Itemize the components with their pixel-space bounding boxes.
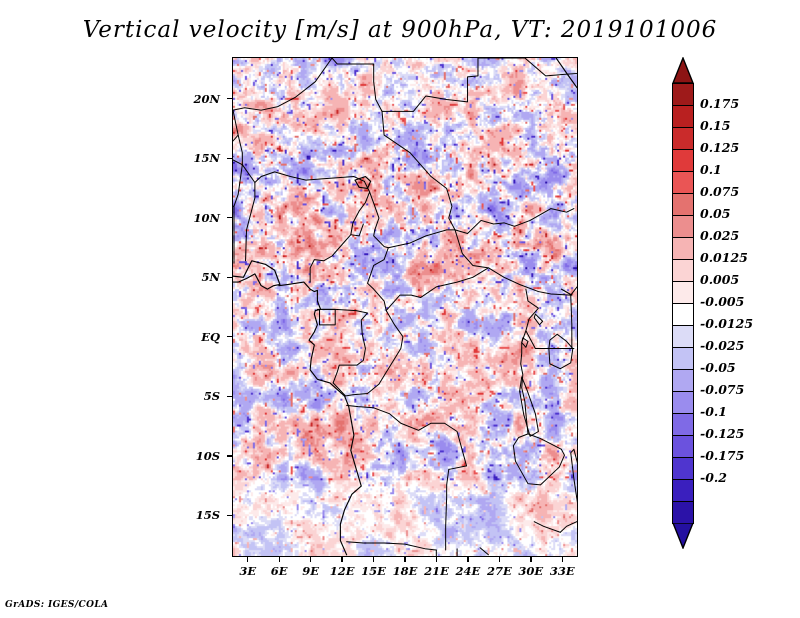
y-tick bbox=[227, 336, 232, 337]
x-tick bbox=[499, 557, 500, 562]
x-tick bbox=[373, 557, 374, 562]
y-tick bbox=[227, 515, 232, 516]
footer-credit: GrADS: IGES/COLA bbox=[5, 600, 108, 610]
colorbar-band bbox=[672, 281, 694, 304]
colorbar-band bbox=[672, 193, 694, 216]
colorbar-tick-label: 0.075 bbox=[700, 184, 739, 199]
y-tick bbox=[227, 277, 232, 278]
colorbar-band bbox=[672, 435, 694, 458]
colorbar-band bbox=[672, 347, 694, 370]
colorbar-band bbox=[672, 457, 694, 480]
colorbar-band bbox=[672, 325, 694, 348]
colorbar-band bbox=[672, 149, 694, 172]
colorbar-tick-label: 0.0125 bbox=[700, 250, 748, 265]
y-axis-label: 15N bbox=[178, 151, 220, 165]
page-title: Vertical velocity [m/s] at 900hPa, VT: 2… bbox=[0, 17, 800, 43]
grads-plot-page: Vertical velocity [m/s] at 900hPa, VT: 2… bbox=[0, 0, 800, 618]
colorbar bbox=[672, 57, 694, 553]
x-tick bbox=[247, 557, 248, 562]
colorbar-tick-label: 0.175 bbox=[700, 96, 739, 111]
x-tick bbox=[341, 557, 342, 562]
x-tick bbox=[562, 557, 563, 562]
x-tick bbox=[436, 557, 437, 562]
colorbar-tick-label: 0.005 bbox=[700, 272, 739, 287]
y-axis-label: 10N bbox=[178, 211, 220, 225]
colorbar-tick-label: -0.175 bbox=[700, 448, 744, 463]
y-tick bbox=[227, 396, 232, 397]
colorbar-tick-label: 0.15 bbox=[700, 118, 730, 133]
colorbar-tick-label: 0.125 bbox=[700, 140, 739, 155]
colorbar-band bbox=[672, 391, 694, 414]
colorbar-band bbox=[672, 303, 694, 326]
y-tick bbox=[227, 217, 232, 218]
colorbar-band bbox=[672, 83, 694, 106]
y-axis-label: 15S bbox=[178, 508, 220, 522]
y-axis-label: 20N bbox=[178, 92, 220, 106]
x-axis-label: 33E bbox=[542, 564, 582, 578]
colorbar-tick-label: -0.1 bbox=[700, 404, 727, 419]
y-axis-label: EQ bbox=[178, 330, 220, 344]
colorbar-tick-label: 0.025 bbox=[700, 228, 739, 243]
y-axis-label: 5S bbox=[178, 389, 220, 403]
colorbar-band bbox=[672, 237, 694, 260]
x-tick bbox=[530, 557, 531, 562]
y-axis-label: 5N bbox=[178, 270, 220, 284]
x-tick bbox=[467, 557, 468, 562]
colorbar-band bbox=[672, 413, 694, 436]
colorbar-band bbox=[672, 215, 694, 238]
x-tick bbox=[310, 557, 311, 562]
colorbar-band bbox=[672, 369, 694, 392]
colorbar-tick-label: -0.125 bbox=[700, 426, 744, 441]
colorbar-cap-top bbox=[672, 57, 694, 83]
colorbar-tick-label: -0.05 bbox=[700, 360, 736, 375]
y-axis-label: 10S bbox=[178, 449, 220, 463]
colorbar-cap-bottom bbox=[672, 523, 694, 549]
colorbar-tick-label: -0.075 bbox=[700, 382, 744, 397]
colorbar-tick-label: -0.2 bbox=[700, 470, 727, 485]
map-borders-overlay bbox=[233, 58, 577, 556]
colorbar-band bbox=[672, 259, 694, 282]
colorbar-band bbox=[672, 105, 694, 128]
y-tick bbox=[227, 455, 232, 456]
colorbar-band bbox=[672, 479, 694, 502]
colorbar-tick-label: 0.05 bbox=[700, 206, 730, 221]
colorbar-tick-label: -0.025 bbox=[700, 338, 744, 353]
x-tick bbox=[404, 557, 405, 562]
y-tick bbox=[227, 158, 232, 159]
y-tick bbox=[227, 98, 232, 99]
x-tick bbox=[279, 557, 280, 562]
colorbar-band bbox=[672, 127, 694, 150]
colorbar-band bbox=[672, 171, 694, 194]
colorbar-tick-label: -0.0125 bbox=[700, 316, 753, 331]
map-plot-area bbox=[232, 57, 578, 557]
colorbar-tick-label: -0.005 bbox=[700, 294, 744, 309]
colorbar-band bbox=[672, 501, 694, 524]
colorbar-tick-label: 0.1 bbox=[700, 162, 722, 177]
